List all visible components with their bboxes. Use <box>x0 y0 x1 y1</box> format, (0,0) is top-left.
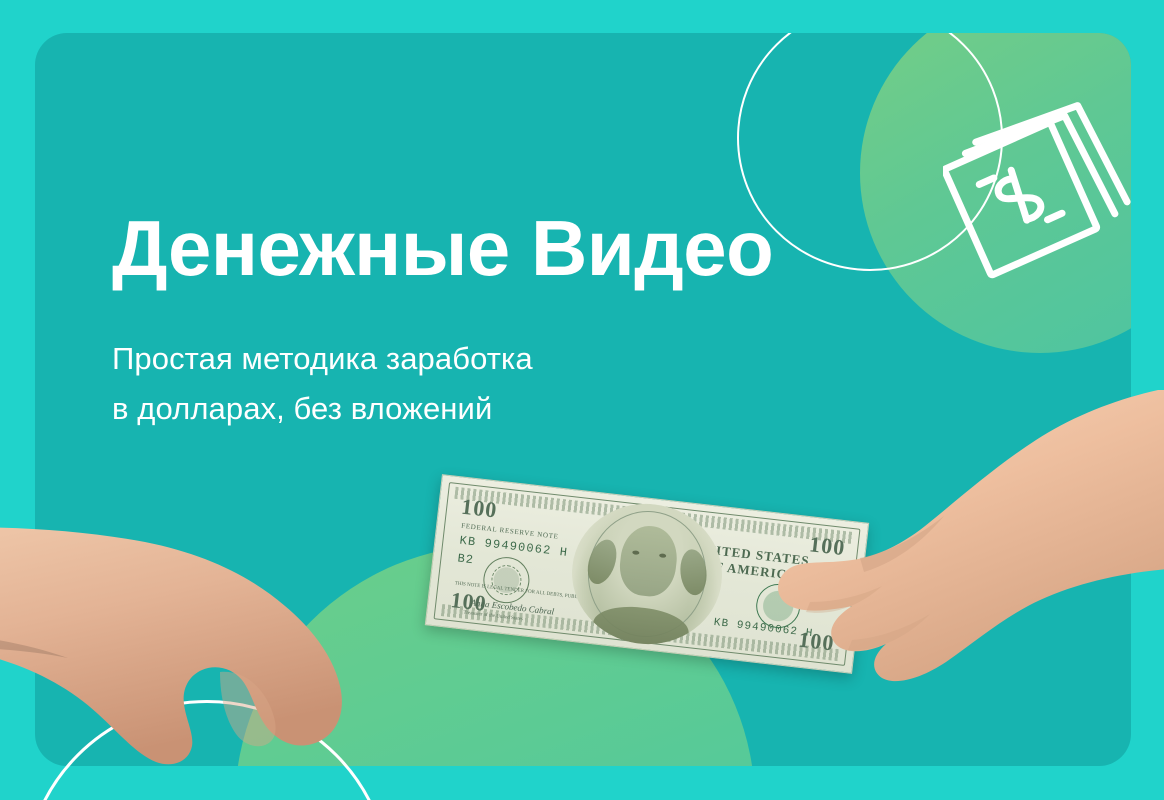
page-subtitle: Простая методика заработка в долларах, б… <box>112 334 892 434</box>
subtitle-line-2: в долларах, без вложений <box>112 384 892 434</box>
banner-text-block: Денежные Видео Простая методика заработк… <box>112 208 892 434</box>
banner-card: Денежные Видео Простая методика заработк… <box>35 33 1131 766</box>
page-title: Денежные Видео <box>112 208 892 290</box>
subtitle-line-1: Простая методика заработка <box>112 334 892 384</box>
banner-canvas: Денежные Видео Простая методика заработк… <box>0 0 1164 800</box>
